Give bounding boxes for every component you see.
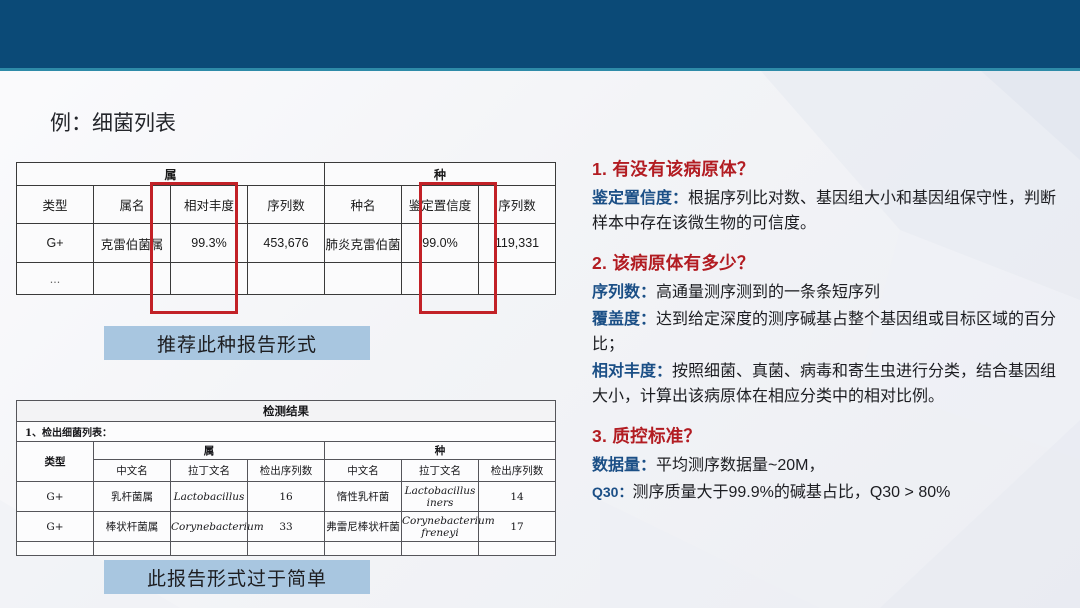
table2-cell-genus-count: 16: [248, 482, 325, 512]
term-separator: ：: [672, 190, 688, 207]
table2-cell-type: G+: [17, 482, 94, 512]
table2-header-genus-chinese: 中文名: [94, 460, 171, 482]
table2-cell-blank: [94, 542, 171, 556]
table2-group-header-row: 类型 属 种: [17, 442, 556, 460]
banner-accent-line: [0, 68, 1080, 71]
table2-header-species-latin: 拉丁文名: [402, 460, 479, 482]
term-separator: ：: [618, 484, 632, 500]
table1-header-sequence-count: 序列数: [248, 186, 325, 224]
question-1-heading: 1. 有没有该病原体？: [592, 158, 1062, 180]
table2-header-genus-count: 检出序列数: [248, 460, 325, 482]
table2-cell-blank: [479, 542, 556, 556]
question-3-item: Q30：测序质量大于99.9%的碱基占比，Q30 > 80%: [592, 480, 1062, 505]
term-separator: ：: [656, 363, 672, 380]
table2-subtitle: 1、检出细菌列表：: [17, 422, 556, 442]
highlight-box-relative-abundance: [150, 182, 238, 314]
table2-header-type: 类型: [17, 442, 94, 482]
question-2-item: 序列数：高通量测序测到的一条条短序列: [592, 280, 1062, 305]
term-separator: ：: [640, 457, 656, 474]
callout-recommended-format: 推荐此种报告形式: [104, 326, 370, 360]
term-description: 平均测序数据量~20M，: [656, 457, 824, 474]
table2-cell-genus-chinese: 乳杆菌属: [94, 482, 171, 512]
table1-header-species-name: 种名: [325, 186, 402, 224]
term-separator: ：: [640, 284, 656, 301]
title-banner: [0, 0, 1080, 68]
table2-row: G+ 棒状杆菌属 Corynebacterium 33 弗雷尼棒状杆菌 Cory…: [17, 512, 556, 542]
table2-row-empty: [17, 542, 556, 556]
table2-cell-species-chinese: 弗雷尼棒状杆菌: [325, 512, 402, 542]
table1-cell-species-name: 肺炎克雷伯菌: [325, 224, 402, 263]
term-separator: ：: [640, 311, 656, 328]
slide-root: 报告解读-常用术语解释 例：细菌列表 属 种 类型 属名 相对丰度 序列数 种名…: [0, 0, 1080, 608]
terminology-panel: 1. 有没有该病原体？ 鉴定置信度：根据序列比对数、基因组大小和基因组保守性，判…: [592, 158, 1062, 507]
table2-header-row: 中文名 拉丁文名 检出序列数 中文名 拉丁文名 检出序列数: [17, 460, 556, 482]
question-3-item: 数据量：平均测序数据量~20M，: [592, 453, 1062, 478]
bacteria-list-table-simple: 检测结果 1、检出细菌列表： 类型 属 种 中文名 拉丁文名 检出序列数 中文名…: [16, 400, 556, 556]
term-description: 达到给定深度的测序碱基占整个基因组或目标区域的百分比；: [592, 311, 1056, 353]
table1-header-type: 类型: [17, 186, 94, 224]
term-label: 相对丰度: [592, 363, 656, 380]
question-3-heading: 3. 质控标准？: [592, 425, 1062, 447]
table2-row: G+ 乳杆菌属 Lactobacillus 16 惰性乳杆菌 Lactobaci…: [17, 482, 556, 512]
table2-cell-genus-chinese: 棒状杆菌属: [94, 512, 171, 542]
table2-cell-genus-latin: Corynebacterium: [171, 512, 248, 542]
table2-title-row: 检测结果: [17, 401, 556, 422]
table2-header-species-chinese: 中文名: [325, 460, 402, 482]
table1-cell-empty-3: [248, 263, 325, 295]
example-label: 例：细菌列表: [50, 107, 176, 137]
table1-cell-ellipsis: ...: [17, 263, 94, 295]
term-label: 覆盖度: [592, 311, 640, 328]
term-description: 高通量测序测到的一条条短序列: [656, 284, 880, 301]
question-2-item: 覆盖度：达到给定深度的测序碱基占整个基因组或目标区域的百分比；: [592, 307, 1062, 357]
table2-group-genus: 属: [94, 442, 325, 460]
table2-group-species: 种: [325, 442, 556, 460]
table2-cell-species-chinese: 惰性乳杆菌: [325, 482, 402, 512]
table2-cell-type: G+: [17, 512, 94, 542]
table1-cell-type: G+: [17, 224, 94, 263]
table2-header-species-count: 检出序列数: [479, 460, 556, 482]
term-label: 数据量: [592, 457, 640, 474]
table2-header-genus-latin: 拉丁文名: [171, 460, 248, 482]
table1-cell-empty-4: [325, 263, 402, 295]
term-label: Q30: [592, 484, 618, 500]
term-label: 序列数: [592, 284, 640, 301]
table2-cell-blank: [171, 542, 248, 556]
question-1-item: 鉴定置信度：根据序列比对数、基因组大小和基因组保守性，判断样本中存在该微生物的可…: [592, 186, 1062, 236]
question-2-heading: 2. 该病原体有多少？: [592, 252, 1062, 274]
table2-title: 检测结果: [17, 401, 556, 422]
table2-cell-blank: [17, 542, 94, 556]
table2-cell-species-count: 14: [479, 482, 556, 512]
table2-cell-blank: [325, 542, 402, 556]
table2-cell-blank: [248, 542, 325, 556]
question-2-item: 相对丰度：按照细菌、真菌、病毒和寄生虫进行分类，结合基因组大小，计算出该病原体在…: [592, 359, 1062, 409]
term-description: 测序质量大于99.9%的碱基占比，Q30 > 80%: [632, 484, 950, 501]
term-label: 鉴定置信度: [592, 190, 672, 207]
table2-subtitle-row: 1、检出细菌列表：: [17, 422, 556, 442]
table1-cell-sequence-count: 453,676: [248, 224, 325, 263]
table2-cell-species-latin: Corynebacterium freneyi: [402, 512, 479, 542]
table2-cell-genus-latin: Lactobacillus: [171, 482, 248, 512]
callout-too-simple: 此报告形式过于简单: [104, 560, 370, 594]
table2-cell-species-latin: Lactobacillus iners: [402, 482, 479, 512]
table2-cell-blank: [402, 542, 479, 556]
highlight-box-confidence: [419, 182, 497, 314]
